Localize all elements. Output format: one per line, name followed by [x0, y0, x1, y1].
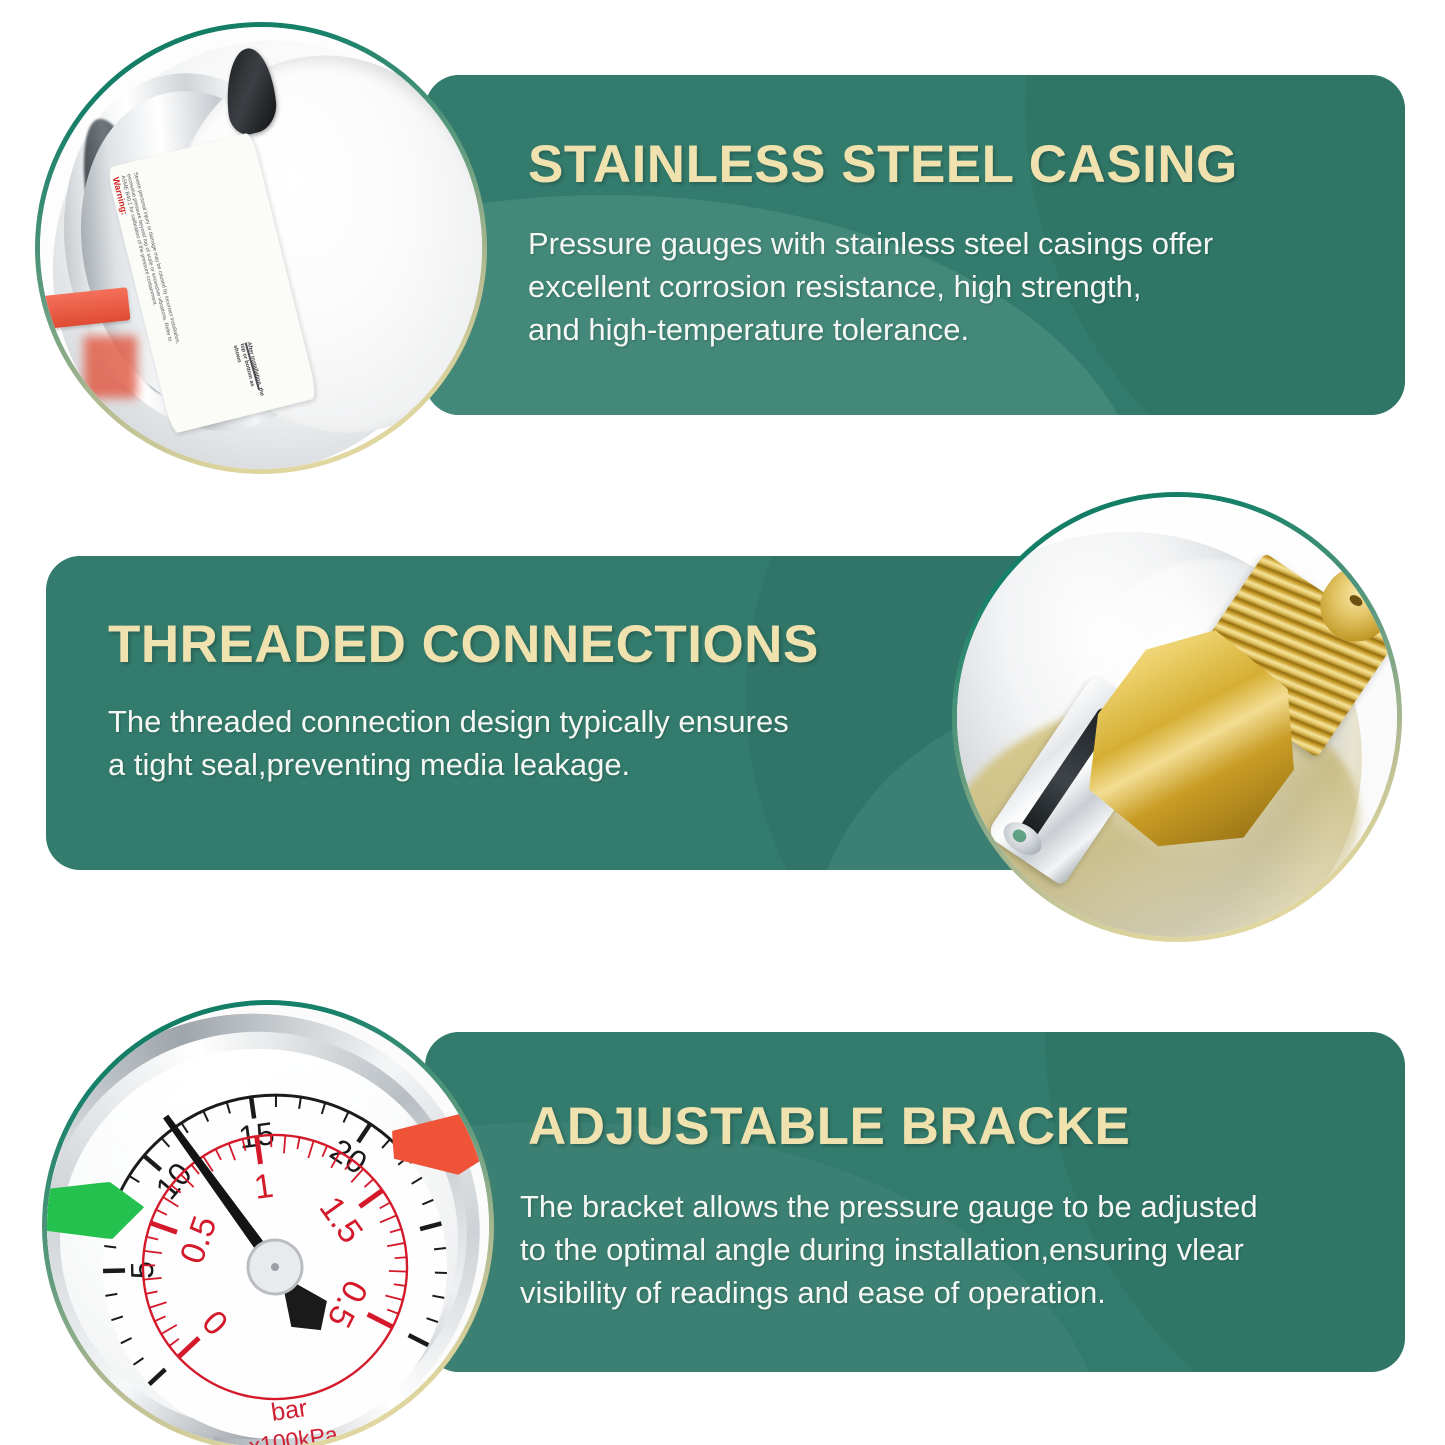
- feature-title-stainless-steel-casing: STAINLESS STEEL CASING: [528, 134, 1238, 195]
- feature-title-threaded-connections: THREADED CONNECTIONS: [108, 614, 819, 675]
- photo-scene: [957, 497, 1397, 937]
- feature-body-line: to the optimal angle during installation…: [520, 1228, 1258, 1271]
- feature-body-stainless-steel-casing: Pressure gauges with stainless steel cas…: [528, 222, 1213, 351]
- red-tab-blur: [84, 336, 137, 398]
- feature-body-line: and high-temperature tolerance.: [528, 308, 1213, 351]
- feature-body-adjustable-bracke: The bracket allows the pressure gauge to…: [520, 1185, 1258, 1314]
- dial-unit-primary: bar: [269, 1394, 309, 1427]
- photo-scene: 5101520 00.511.50.5 bar x100kPa: [47, 1005, 489, 1445]
- feature-body-line: a tight seal,preventing media leakage.: [108, 743, 789, 786]
- photo-clip: Warning: Severe personal injury or damag…: [40, 27, 482, 469]
- photo-scene: Warning: Severe personal injury or damag…: [40, 27, 482, 469]
- gauge-back-casing-photo: Warning: Severe personal injury or damag…: [35, 22, 487, 474]
- brass-threaded-connector-photo: [952, 492, 1402, 942]
- warning-label-note: After installation, the top or bottom as…: [231, 341, 266, 404]
- feature-body-line: excellent corrosion resistance, high str…: [528, 265, 1213, 308]
- photo-clip: 5101520 00.511.50.5 bar x100kPa: [47, 1005, 489, 1445]
- feature-title-adjustable-bracke: ADJUSTABLE BRACKE: [528, 1096, 1130, 1157]
- feature-body-line: Pressure gauges with stainless steel cas…: [528, 222, 1213, 265]
- feature-body-line: The threaded connection design typically…: [108, 700, 789, 743]
- feature-body-threaded-connections: The threaded connection design typically…: [108, 700, 789, 786]
- gauge-dial-photo: 5101520 00.511.50.5 bar x100kPa: [42, 1000, 494, 1445]
- infographic-page: STAINLESS STEEL CASING Pressure gauges w…: [0, 0, 1445, 1445]
- feature-body-line: The bracket allows the pressure gauge to…: [520, 1185, 1258, 1228]
- photo-clip: [957, 497, 1397, 937]
- feature-body-line: visibility of readings and ease of opera…: [520, 1271, 1258, 1314]
